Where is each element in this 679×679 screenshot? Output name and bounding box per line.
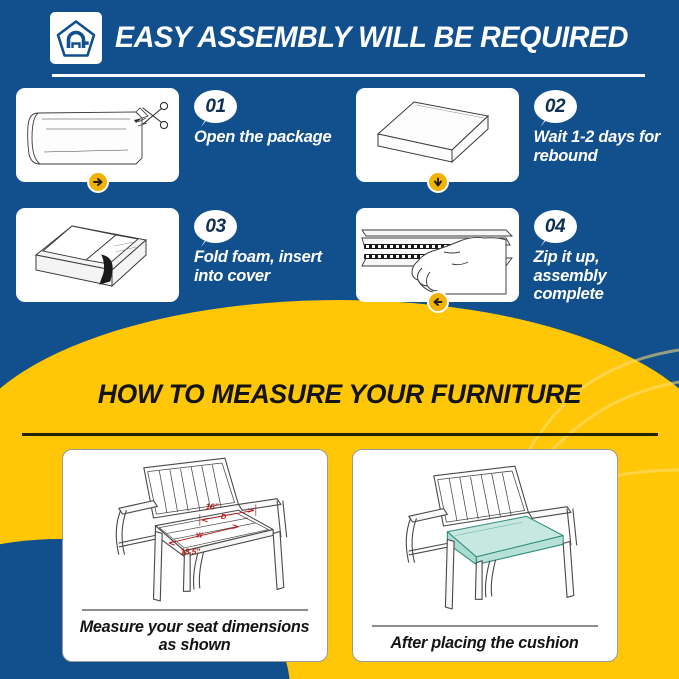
depth-letter: D	[221, 513, 226, 521]
card-caption: Measure your seat dimensions as shown	[63, 611, 327, 662]
arrow-down-icon	[427, 171, 449, 193]
assembly-steps-grid: 01 Open the package	[0, 88, 679, 328]
step-number-badge: 04	[534, 210, 577, 243]
step-number: 04	[545, 217, 565, 236]
page-title: EASY ASSEMBLY WILL BE REQUIRED	[115, 21, 628, 55]
steps-row-top: 01 Open the package	[0, 88, 679, 208]
assembly-instructions-infographic: EASY ASSEMBLY WILL BE REQUIRED	[0, 0, 679, 679]
hand-zipping-cushion-illustration	[356, 208, 519, 302]
patio-chair-with-seat-dimensions-illustration: 16" D W 18.5"	[63, 450, 327, 609]
section-title: HOW TO MEASURE YOUR FURNITURE	[98, 379, 582, 409]
flat-foam-cushion-illustration	[356, 88, 519, 182]
step-number: 03	[205, 217, 225, 236]
measure-section-header: HOW TO MEASURE YOUR FURNITURE	[0, 379, 679, 410]
measure-card-with-cushion: After placing the cushion	[352, 449, 618, 662]
arrow-left-icon	[427, 291, 449, 313]
step-label: Zip it up, assembly complete	[534, 248, 676, 304]
step-01: 01 Open the package	[0, 88, 340, 208]
step-04-text: 04 Zip it up, assembly complete	[519, 208, 676, 304]
step-label: Fold foam, insert into cover	[194, 248, 336, 285]
rolled-package-with-scissors-illustration	[16, 88, 179, 182]
measure-card-dimensions: 16" D W 18.5" Measure your seat dimensio…	[62, 449, 328, 662]
card-caption: After placing the cushion	[382, 627, 586, 661]
step-label: Wait 1-2 days for rebound	[534, 128, 676, 165]
section-underline-rule	[22, 433, 658, 436]
step-02-text: 02 Wait 1-2 days for rebound	[519, 88, 676, 165]
patio-chair-with-cushion-illustration	[353, 450, 617, 625]
steps-row-bottom: 03 Fold foam, insert into cover	[0, 208, 679, 328]
measure-cards-row: 16" D W 18.5" Measure your seat dimensio…	[0, 449, 679, 664]
depth-value: 16"	[205, 502, 218, 511]
step-03-text: 03 Fold foam, insert into cover	[179, 208, 336, 285]
step-number-badge: 02	[534, 90, 577, 123]
step-label: Open the package	[194, 128, 331, 147]
foam-inserted-into-cover-illustration	[16, 208, 179, 302]
step-01-text: 01 Open the package	[179, 88, 331, 147]
width-value: 18.5"	[180, 548, 200, 557]
step-number: 01	[205, 97, 225, 116]
assembly-header: EASY ASSEMBLY WILL BE REQUIRED	[50, 12, 644, 64]
step-02: 02 Wait 1-2 days for rebound	[340, 88, 679, 208]
arrow-right-icon	[87, 171, 109, 193]
header-underline-rule	[52, 74, 645, 77]
home-pentagon-icon	[50, 12, 102, 64]
step-number-badge: 01	[194, 90, 237, 123]
step-04: 04 Zip it up, assembly complete	[340, 208, 679, 328]
step-number: 02	[545, 97, 565, 116]
step-03: 03 Fold foam, insert into cover	[0, 208, 340, 328]
step-number-badge: 03	[194, 210, 237, 243]
